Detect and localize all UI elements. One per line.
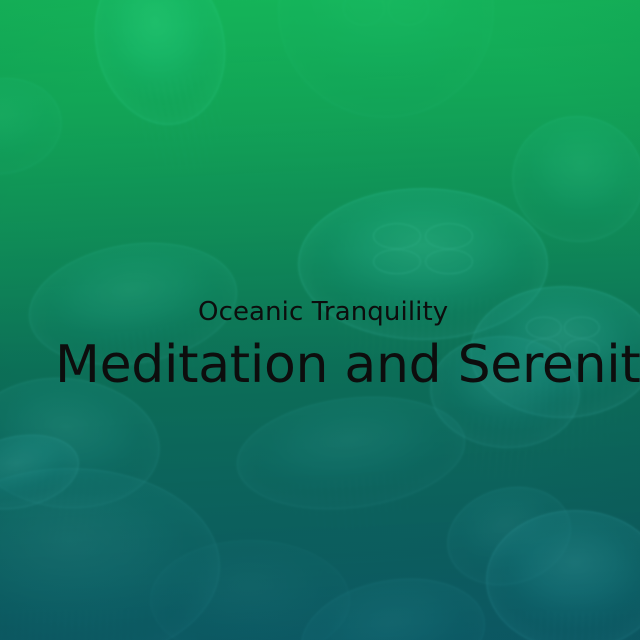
page-title: Meditation and Serenity — [0, 336, 640, 395]
text-block: Oceanic Tranquility Meditation and Seren… — [0, 296, 640, 395]
subtitle: Oceanic Tranquility — [0, 296, 640, 330]
title-card: Oceanic Tranquility Meditation and Seren… — [0, 0, 640, 640]
